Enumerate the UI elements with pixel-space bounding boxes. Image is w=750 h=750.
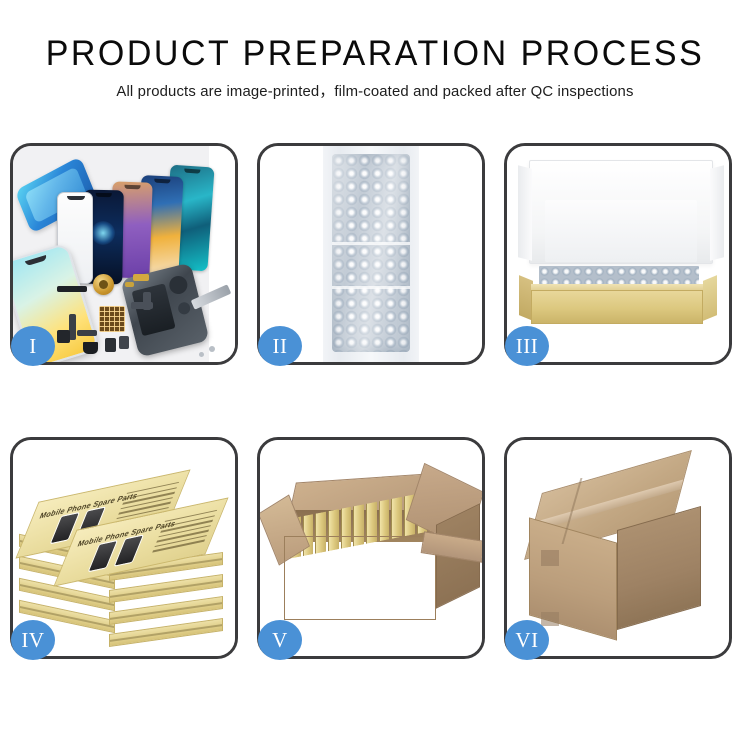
step-panel-3: III: [504, 143, 732, 365]
chip-grid-icon: [99, 306, 125, 332]
wireless-coil-icon: [93, 274, 114, 295]
plastic-gloss-overlay: [332, 154, 410, 352]
step-number-badge-1: I: [11, 326, 55, 366]
step-number-badge-3: III: [505, 326, 549, 366]
screw-icon: [209, 346, 215, 352]
step-panel-4: Mobile Phone Spare Parts Mobile Phone Sp…: [10, 437, 238, 659]
step-panel-1: I: [10, 143, 238, 365]
wrap-seam: [332, 242, 410, 245]
box-spec-lines: [151, 510, 217, 556]
flex-cable-icon: [143, 292, 151, 310]
component-icon: [119, 336, 129, 349]
tape-patch-icon: [541, 550, 559, 566]
carton-front: [284, 536, 436, 620]
step-panel-6: VI: [504, 437, 732, 659]
step-panel-5: V: [257, 437, 485, 659]
flex-cable-icon: [77, 330, 97, 336]
header: PRODUCT PREPARATION PROCESS All products…: [0, 0, 750, 103]
foam-sheet-icon: [545, 200, 697, 262]
wrap-seam: [332, 286, 410, 289]
step-number-badge-4: IV: [11, 620, 55, 660]
component-icon: [57, 330, 70, 343]
step-number-badge-5: V: [258, 620, 302, 660]
step-number-badge-2: II: [258, 326, 302, 366]
page-subtitle: All products are image-printed，film-coat…: [8, 81, 743, 103]
step-number-badge-6: VI: [505, 620, 549, 660]
box-front-panel: [531, 290, 703, 324]
gold-connector-icon: [133, 274, 149, 281]
speaker-mesh-icon: [57, 286, 87, 292]
page-title: PRODUCT PREPARATION PROCESS: [11, 34, 739, 74]
process-step-grid: I II III: [10, 143, 740, 681]
step-panel-2: II: [257, 143, 485, 365]
component-icon: [105, 338, 116, 352]
tape-patch-icon: [541, 612, 559, 626]
component-icon: [83, 342, 98, 354]
screw-icon: [199, 352, 204, 357]
box-side-right: [703, 275, 717, 321]
flex-cable-icon: [69, 314, 76, 340]
gold-connector-icon: [125, 282, 134, 287]
